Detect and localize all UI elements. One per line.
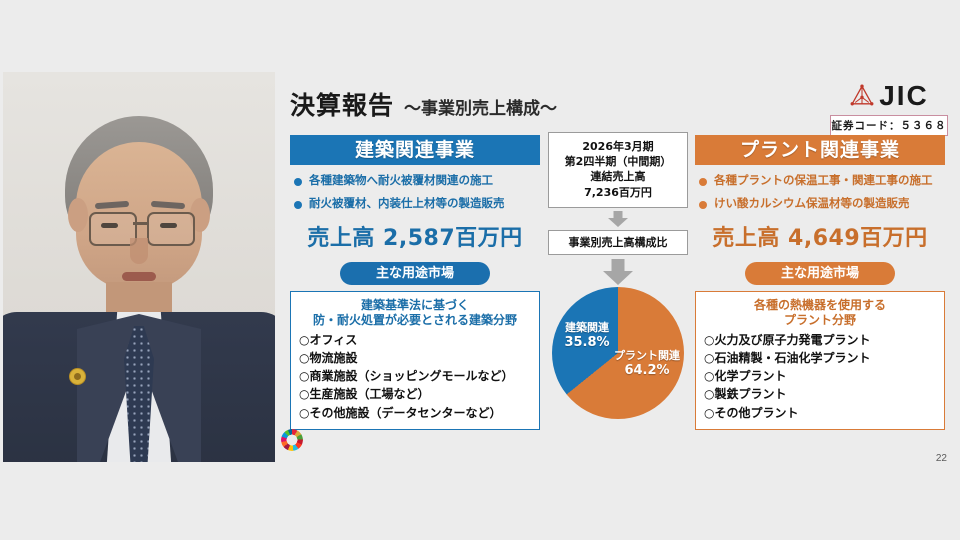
bottom-letterbox: [0, 462, 960, 540]
portrait-mouth: [122, 272, 156, 281]
pie-label-building: 建築関連 35.8%: [556, 321, 618, 351]
speaker-video-panel[interactable]: [3, 72, 275, 462]
bullet-text: 耐火被覆材、内装仕上材等の製造販売: [309, 197, 505, 211]
caption-line-1: 各種の熱機器を使用する: [704, 298, 936, 313]
building-market-list: 建築基準法に基づく 防・耐火処置が必要とされる建築分野 ○オフィス ○物流施設 …: [290, 291, 540, 430]
title-sub-text: ～事業別売上構成～: [404, 94, 557, 119]
portrait-nose: [130, 238, 148, 264]
speaker-portrait: [3, 116, 275, 462]
jic-mark-icon: [849, 83, 875, 109]
bullet-dot-icon: [294, 178, 302, 186]
presentation-slide: 決算報告 ～事業別売上構成～ JIC 証券コード：５３６８ 建築関連事業: [0, 0, 960, 540]
sales-ratio-label-box: 事業別売上高構成比: [548, 230, 688, 255]
building-business-column: 建築関連事業 各種建築物へ耐火被覆材関連の施工 耐火被覆材、内装仕上材等の製造販…: [290, 135, 540, 430]
arrow-head: [603, 271, 633, 285]
pie-label-building-pct: 35.8%: [556, 335, 618, 351]
summary-period-line: 2026年3月期: [551, 139, 685, 154]
lapel-pin-icon: [69, 368, 86, 385]
sales-composition-pie-chart: 建築関連 35.8% プラント関連 64.2%: [552, 287, 684, 419]
list-item: ○石油精製・石油化学プラント: [704, 349, 936, 367]
bullet-text: けい酸カルシウム保温材等の製造販売: [714, 197, 910, 211]
sdgs-wheel-icon: [281, 429, 303, 451]
bullet-dot-icon: [699, 178, 707, 186]
bullet-item: けい酸カルシウム保温材等の製造販売: [699, 197, 945, 211]
plant-market-pill: 主な用途市場: [745, 262, 895, 285]
plant-business-bullets: 各種プラントの保温工事・関連工事の施工 けい酸カルシウム保温材等の製造販売: [695, 174, 945, 211]
list-item: ○火力及び原子力発電プラント: [704, 331, 936, 349]
logo-wordmark: JIC: [879, 80, 929, 112]
plant-sales-amount: 売上高 4,649百万円: [695, 220, 945, 252]
bullet-item: 耐火被覆材、内装仕上材等の製造販売: [294, 197, 540, 211]
bullet-dot-icon: [699, 201, 707, 209]
arrow-down-small-icon: [608, 211, 628, 227]
plant-business-header: プラント関連事業: [695, 135, 945, 165]
arrow-stem: [614, 211, 623, 218]
building-business-header: 建築関連事業: [290, 135, 540, 165]
portrait-glasses-right: [147, 212, 195, 246]
bullet-item: 各種建築物へ耐火被覆材関連の施工: [294, 174, 540, 188]
portrait-glasses-bridge: [133, 222, 147, 225]
building-market-pill: 主な用途市場: [340, 262, 490, 285]
pie-label-plant: プラント関連 64.2%: [610, 349, 684, 379]
caption-line-1: 建築基準法に基づく: [299, 298, 531, 313]
arrow-stem: [612, 259, 625, 271]
list-item: ○物流施設: [299, 349, 531, 367]
list-item: ○その他プラント: [704, 404, 936, 422]
summary-metric-line: 連結売上高: [551, 169, 685, 184]
plant-market-list: 各種の熱機器を使用する プラント分野 ○火力及び原子力発電プラント ○石油精製・…: [695, 291, 945, 430]
page-title: 決算報告 ～事業別売上構成～: [290, 86, 557, 122]
pie-label-building-name: 建築関連: [556, 321, 618, 335]
list-item: ○生産施設（工場など）: [299, 385, 531, 403]
list-item: ○化学プラント: [704, 367, 936, 385]
pie-label-plant-name: プラント関連: [610, 349, 684, 363]
building-business-bullets: 各種建築物へ耐火被覆材関連の施工 耐火被覆材、内装仕上材等の製造販売: [290, 174, 540, 211]
list-item: ○その他施設（データセンターなど）: [299, 404, 531, 422]
bullet-dot-icon: [294, 201, 302, 209]
building-list-caption: 建築基準法に基づく 防・耐火処置が必要とされる建築分野: [299, 298, 531, 328]
summary-quarter-line: 第2四半期（中間期）: [551, 154, 685, 169]
plant-list-caption: 各種の熱機器を使用する プラント分野: [704, 298, 936, 328]
list-item: ○商業施設（ショッピングモールなど）: [299, 367, 531, 385]
bullet-text: 各種建築物へ耐火被覆材関連の施工: [309, 174, 493, 188]
arrow-head: [608, 218, 628, 227]
caption-line-2: プラント分野: [704, 313, 936, 328]
list-item: ○オフィス: [299, 331, 531, 349]
building-sales-amount: 売上高 2,587百万円: [290, 220, 540, 252]
consolidated-sales-box: 2026年3月期 第2四半期（中間期） 連結売上高 7,236百万円: [548, 132, 688, 208]
list-item: ○製鉄プラント: [704, 385, 936, 403]
caption-line-2: 防・耐火処置が必要とされる建築分野: [299, 313, 531, 328]
summary-amount-line: 7,236百万円: [551, 185, 685, 200]
arrow-down-large-icon: [603, 259, 633, 285]
portrait-ear-left: [68, 198, 88, 232]
bullet-text: 各種プラントの保温工事・関連工事の施工: [714, 174, 933, 188]
pie-label-plant-pct: 64.2%: [610, 363, 684, 379]
securities-code-badge: 証券コード：５３６８: [830, 115, 948, 136]
company-logo: JIC 証券コード：５３６８: [830, 80, 948, 136]
logo-row: JIC: [830, 80, 948, 112]
plant-business-column: プラント関連事業 各種プラントの保温工事・関連工事の施工 けい酸カルシウム保温材…: [695, 135, 945, 430]
title-main-text: 決算報告: [290, 86, 394, 122]
center-summary-chart: 2026年3月期 第2四半期（中間期） 連結売上高 7,236百万円 事業別売上…: [548, 132, 688, 419]
bullet-item: 各種プラントの保温工事・関連工事の施工: [699, 174, 945, 188]
